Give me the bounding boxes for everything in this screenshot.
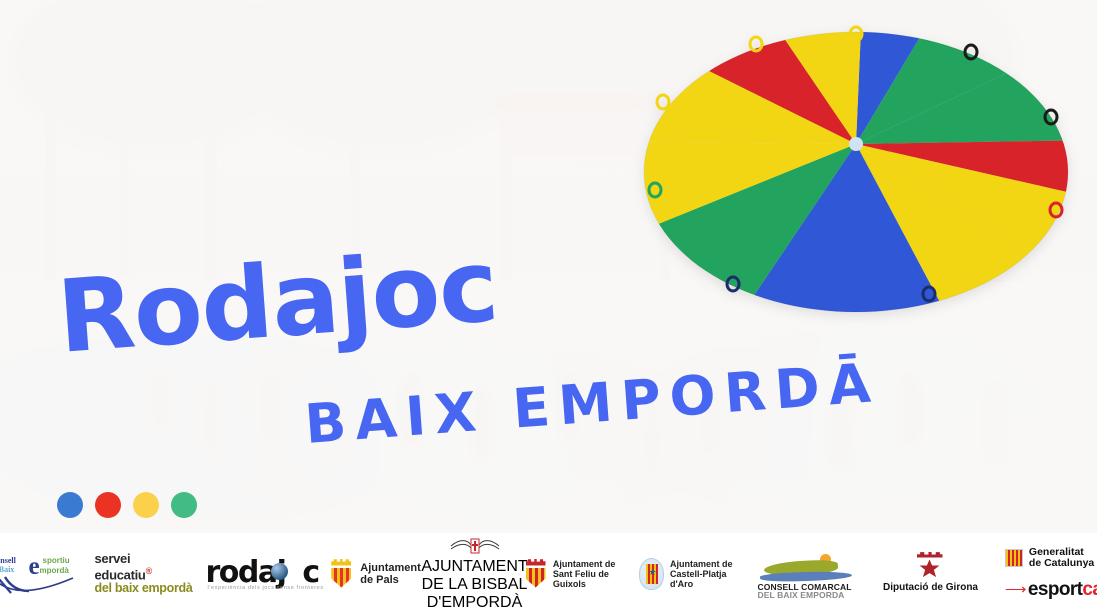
diputacio-label: Diputació de Girona: [871, 582, 991, 593]
pals-label: Ajuntament de Pals: [360, 562, 421, 586]
logo-ajuntament-pals: Ajuntament de Pals: [323, 559, 427, 589]
logo-generalitat-esportcat: Generalitat de Catalunya ⟶ esportcat: [993, 547, 1097, 601]
senyera-flag-icon: [1005, 549, 1023, 567]
rodajoc-tagline: l'experiència dels jocs sense fronteres: [208, 585, 324, 591]
ce-swoosh-icon: [0, 573, 75, 595]
esportcat-mark-icon: ⟶: [1005, 582, 1022, 597]
decorative-dots: [57, 492, 197, 518]
generalitat-row: Generalitat de Catalunya: [1005, 547, 1097, 569]
logo-consell-comarcal: CONSELL COMARCAL DEL BAIX EMPORDA: [751, 553, 869, 595]
page-title: Rodajoc: [54, 236, 500, 368]
se-line1: servei: [95, 553, 195, 565]
generalitat-label: Generalitat de Catalunya: [1029, 547, 1094, 569]
logo-rodajoc: rodajc l'experiència dels jocs sense fro…: [201, 555, 323, 593]
castell-platja-daro-label: Ajuntament de Castell-Platja d'Aro: [670, 559, 750, 589]
dot-red-icon: [95, 492, 121, 518]
dot-yellow-icon: [133, 492, 159, 518]
sant-feliu-coat-of-arms-icon: [523, 559, 547, 589]
girona-crown-icon: [917, 552, 943, 558]
se-line3: del baix empordà: [95, 582, 195, 594]
la-bisbal-label: AJUNTAMENT DE LA BISBAL D'EMPORDÀ: [421, 558, 527, 612]
sant-feliu-label: Ajuntament de Sant Feliu de Guixols: [553, 559, 639, 589]
sponsor-footer: Consell del Baix e sportiu mpordà servei…: [0, 533, 1097, 614]
ce-line3: sportiu: [43, 556, 70, 565]
logo-consell-esportiu: Consell del Baix e sportiu mpordà: [0, 551, 89, 597]
play-parachute-graphic: [641, 22, 1071, 322]
pals-coat-of-arms-icon: [328, 559, 354, 589]
esportcat-row: ⟶ esportcat: [1005, 579, 1097, 601]
logo-servei-educatiu: servei educatiu® del baix empordà: [89, 553, 201, 593]
esportcat-wordmark: esportcat: [1028, 579, 1097, 601]
poster-root: Rodajoc BAIX EMPORDĀ Consell del Baix e …: [0, 0, 1097, 614]
logo-ajuntament-la-bisbal: AJUNTAMENT DE LA BISBAL D'EMPORDÀ: [427, 536, 523, 612]
registered-icon: ®: [146, 566, 152, 576]
logo-diputacio-girona: Diputació de Girona: [869, 552, 993, 596]
dot-blue-icon: [57, 492, 83, 518]
dot-green-icon: [171, 492, 197, 518]
se-line2: educatiu®: [95, 565, 195, 581]
globe-icon: [271, 563, 288, 580]
cc-line2: DEL BAIX EMPORDA: [758, 590, 845, 600]
castell-platja-daro-coat-of-arms-icon: ★: [639, 558, 665, 590]
girona-cross-icon: [919, 560, 941, 580]
ce-line1: Consell: [0, 556, 16, 565]
logo-ajuntament-sant-feliu: Ajuntament de Sant Feliu de Guixols: [523, 559, 639, 589]
parachute-segments: [641, 22, 1071, 322]
la-bisbal-coat-of-arms-icon: [449, 536, 501, 558]
logo-ajuntament-castell-platja-daro: ★ Ajuntament de Castell-Platja d'Aro: [639, 558, 751, 590]
parachute-hub: [849, 137, 863, 151]
